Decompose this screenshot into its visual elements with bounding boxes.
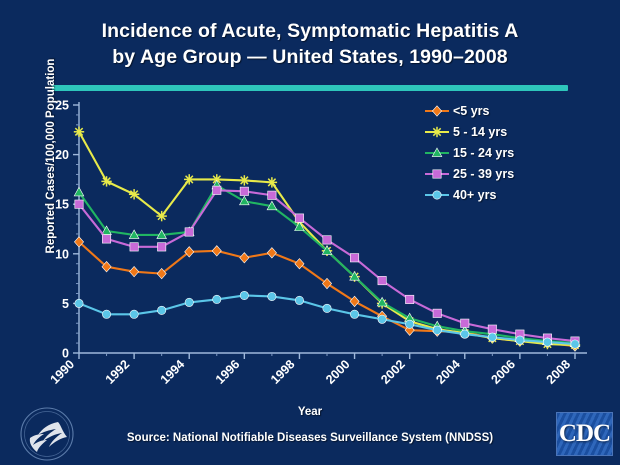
data-point-marker <box>543 338 551 346</box>
data-point-marker <box>350 296 359 306</box>
x-tick-label-group: 2000 <box>323 357 353 386</box>
data-point-marker <box>213 186 221 194</box>
title-divider-rule <box>52 85 568 91</box>
data-point-marker <box>75 299 83 307</box>
data-point-marker <box>378 276 386 284</box>
data-point-marker <box>240 253 249 263</box>
chart-legend: <5 yrs5 - 14 yrs15 - 24 yrs25 - 39 yrs40… <box>424 100 514 205</box>
y-tick-label: 10 <box>55 247 69 261</box>
data-point-marker <box>433 190 441 198</box>
legend-marker-triangle-icon <box>424 146 450 160</box>
data-point-marker <box>350 310 358 318</box>
data-point-marker <box>130 243 138 251</box>
x-tick-label-group: 1992 <box>103 357 133 386</box>
legend-marker-circle-icon <box>424 188 450 202</box>
data-point-marker <box>184 174 194 184</box>
data-point-marker <box>571 340 579 348</box>
legend-marker-star-icon <box>424 125 450 139</box>
x-tick-label: 2004 <box>433 357 463 386</box>
data-point-marker <box>378 315 386 323</box>
x-tick-label: 1996 <box>213 357 243 386</box>
line-chart: 0510152025199019921994199619982000200220… <box>0 96 620 386</box>
legend-label: <5 yrs <box>453 104 490 118</box>
x-axis-title: Year <box>0 406 620 418</box>
legend-marker-square-icon <box>424 167 450 181</box>
legend-label: 40+ yrs <box>453 188 496 202</box>
x-tick-label-group: 2004 <box>433 357 463 386</box>
data-point-marker <box>350 254 358 262</box>
y-tick-label: 25 <box>55 99 69 113</box>
data-point-marker <box>268 191 276 199</box>
data-point-marker <box>268 292 276 300</box>
data-point-marker <box>267 177 277 187</box>
y-tick-label: 5 <box>62 297 69 311</box>
data-point-marker <box>322 278 331 288</box>
data-point-marker <box>432 126 442 136</box>
data-point-marker <box>488 325 496 333</box>
data-point-marker <box>295 296 303 304</box>
y-axis-title: Reported Cases/100,000 Population <box>45 31 57 281</box>
data-point-marker <box>130 266 139 276</box>
data-point-marker <box>488 333 496 341</box>
x-tick-label-group: 1994 <box>158 357 188 386</box>
x-tick-label-group: 1990 <box>48 357 78 386</box>
data-point-marker <box>461 330 469 338</box>
data-point-marker <box>240 187 248 195</box>
data-point-marker <box>239 175 249 185</box>
series-line <box>79 295 575 344</box>
data-point-marker <box>213 295 221 303</box>
legend-item-5-14-yrs[interactable]: 5 - 14 yrs <box>424 121 514 142</box>
data-point-marker <box>74 187 84 196</box>
data-point-marker <box>267 248 276 258</box>
x-tick-label-group: 2002 <box>378 357 408 386</box>
data-point-marker <box>240 291 248 299</box>
slide-title: Incidence of Acute, Symptomatic Hepatiti… <box>0 18 620 70</box>
data-point-marker <box>102 235 110 243</box>
data-point-marker <box>212 246 221 256</box>
data-point-marker <box>433 309 441 317</box>
data-point-marker <box>295 259 304 269</box>
x-tick-label: 1994 <box>158 357 188 386</box>
data-point-marker <box>323 236 331 244</box>
data-point-marker <box>432 105 441 115</box>
x-tick-label: 2002 <box>378 357 408 386</box>
x-tick-label-group: 1996 <box>213 357 243 386</box>
data-point-marker <box>516 336 524 344</box>
data-point-marker <box>405 295 413 303</box>
data-point-marker <box>185 298 193 306</box>
series-25-39-yrs <box>75 186 579 345</box>
x-tick-label-group: 2008 <box>544 357 574 386</box>
legend-item-40-yrs[interactable]: 40+ yrs <box>424 184 514 205</box>
data-point-marker <box>461 319 469 327</box>
title-line-1: Incidence of Acute, Symptomatic Hepatiti… <box>0 18 620 44</box>
x-tick-label-group: 1998 <box>268 357 298 386</box>
data-point-marker <box>157 243 165 251</box>
series-15-24-yrs <box>74 180 580 346</box>
legend-marker-diamond-icon <box>424 104 450 118</box>
source-note: Source: National Notifiable Diseases Sur… <box>0 432 620 444</box>
data-point-marker <box>102 310 110 318</box>
title-line-2: by Age Group — United States, 1990–2008 <box>0 44 620 70</box>
x-tick-label: 2006 <box>488 357 518 386</box>
data-point-marker <box>433 326 441 334</box>
legend-item-25-39-yrs[interactable]: 25 - 39 yrs <box>424 163 514 184</box>
x-tick-label-group: 2006 <box>488 357 518 386</box>
data-point-marker <box>433 169 441 177</box>
slide-root: Incidence of Acute, Symptomatic Hepatiti… <box>0 0 620 465</box>
legend-item-15-24-yrs[interactable]: 15 - 24 yrs <box>424 142 514 163</box>
x-tick-label: 2000 <box>323 357 353 386</box>
data-point-marker <box>130 310 138 318</box>
x-tick-label: 1990 <box>48 357 78 386</box>
y-tick-label: 20 <box>55 148 69 162</box>
x-tick-label: 1992 <box>103 357 133 386</box>
data-point-marker <box>185 228 193 236</box>
data-point-marker <box>295 214 303 222</box>
legend-label: 5 - 14 yrs <box>453 125 507 139</box>
hhs-seal-logo <box>18 406 76 462</box>
cdc-logo: CDC <box>556 412 613 456</box>
chart-svg: 0510152025199019921994199619982000200220… <box>0 96 620 386</box>
data-point-marker <box>323 304 331 312</box>
data-point-marker <box>101 176 111 186</box>
series-line <box>79 190 575 341</box>
y-tick-label: 15 <box>55 198 69 212</box>
legend-item-5-yrs[interactable]: <5 yrs <box>424 100 514 121</box>
data-point-marker <box>156 211 166 221</box>
data-point-marker <box>405 320 413 328</box>
x-tick-label: 1998 <box>268 357 298 386</box>
legend-label: 25 - 39 yrs <box>453 167 514 181</box>
cdc-logo-text: CDC <box>557 413 612 455</box>
x-tick-label: 2008 <box>544 357 574 386</box>
data-point-marker <box>240 196 250 205</box>
data-point-marker <box>157 306 165 314</box>
data-point-marker <box>129 189 139 199</box>
data-point-marker <box>75 200 83 208</box>
data-point-marker <box>74 127 84 137</box>
legend-label: 15 - 24 yrs <box>453 146 514 160</box>
